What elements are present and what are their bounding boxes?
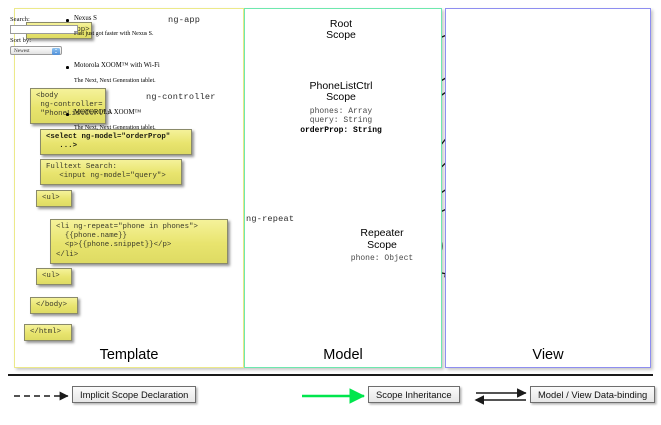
- scope-phonelistctrl-subtitle: Scope: [326, 92, 356, 104]
- scope-repeater-subtitle: Scope: [367, 240, 397, 252]
- list-item-snippet: The Next, Next Generation tablet.: [74, 125, 156, 131]
- panel-view-label: View: [446, 347, 650, 363]
- legend-divider: [8, 374, 653, 376]
- legend: Implicit Scope Declaration Scope Inherit…: [14, 382, 648, 416]
- panel-model-label: Model: [245, 347, 441, 363]
- chevron-updown-icon: [52, 48, 60, 55]
- sort-select[interactable]: Newest: [10, 46, 62, 55]
- diagram-canvas: Template Model View <html ng-app> <body …: [0, 0, 661, 425]
- search-input[interactable]: [10, 25, 78, 34]
- prop-orderprop: orderProp: String: [300, 126, 382, 135]
- scope-phonelistctrl-props: phones: Array query: String orderProp: S…: [300, 107, 382, 135]
- list-item-name: MOTOROLA XOOM™: [74, 109, 141, 116]
- search-label: Search:: [10, 16, 30, 23]
- label-ng-repeat: ng-repeat: [246, 214, 294, 224]
- legend-item-model-view-data-binding: Model / View Data-binding: [530, 386, 655, 403]
- panel-model: Model: [244, 8, 442, 368]
- panel-view: View: [445, 8, 651, 368]
- scope-root-subtitle: Scope: [326, 30, 356, 42]
- panel-template-label: Template: [15, 347, 243, 363]
- sort-label: Sort by:: [10, 37, 31, 44]
- list-item-snippet: Fast just got faster with Nexus S.: [74, 31, 154, 37]
- prop-phone: phone: Object: [351, 254, 413, 263]
- list-bullet: [66, 66, 69, 69]
- sort-select-value: Newest: [14, 48, 30, 54]
- list-item-snippet: The Next, Next Generation tablet.: [74, 78, 156, 84]
- view-app-preview: Search: Sort by: Newest Nexus S Fast jus…: [4, 4, 200, 334]
- prop-query: query: String: [300, 116, 382, 125]
- list-bullet: [66, 113, 69, 116]
- scope-phonelistctrl: PhoneListCtrl Scope phones: Array query:…: [261, 66, 421, 150]
- scope-root: Root Scope: [297, 11, 385, 49]
- scope-repeater-props: phone: Object: [351, 254, 413, 263]
- prop-phones: phones: Array: [300, 107, 382, 116]
- legend-item-scope-inheritance: Scope Inheritance: [368, 386, 460, 403]
- list-bullet: [66, 19, 69, 22]
- list-item-name: Nexus S: [74, 15, 97, 22]
- legend-item-implicit-scope-declaration: Implicit Scope Declaration: [72, 386, 196, 403]
- list-item-name: Motorola XOOM™ with Wi-Fi: [74, 62, 160, 69]
- scope-repeater: Repeater Scope phone: Object: [322, 215, 442, 277]
